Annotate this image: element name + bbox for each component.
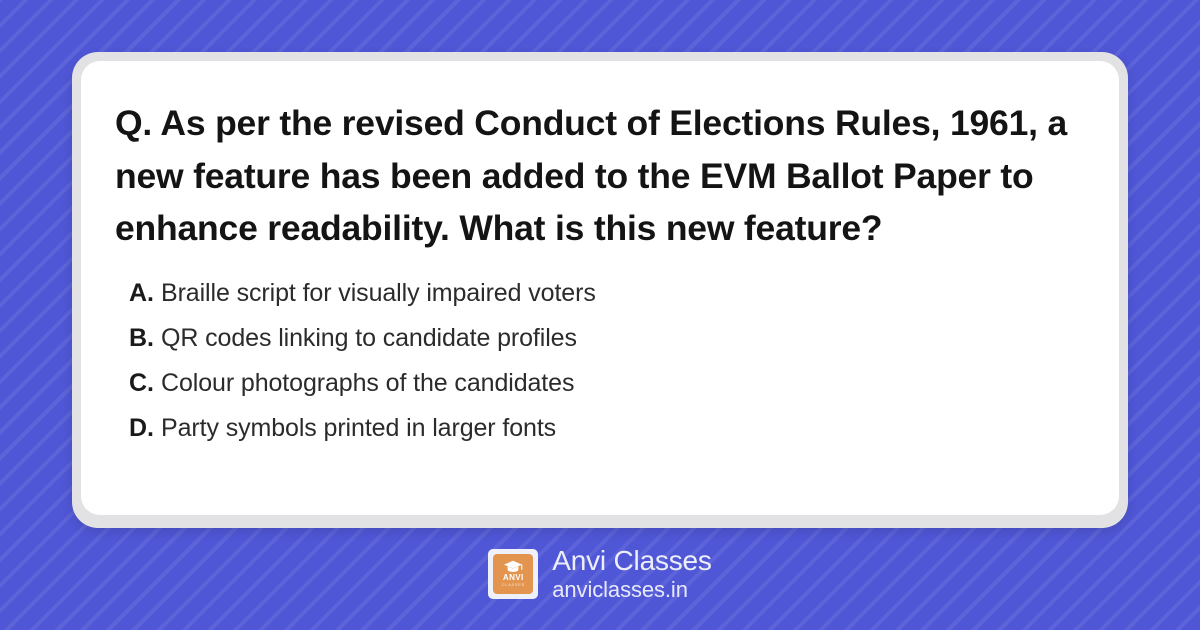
option-letter-c: C.	[129, 369, 161, 398]
options-list: A. Braille script for visually impaired …	[115, 279, 1085, 459]
question-text: Q. As per the revised Conduct of Electio…	[115, 97, 1085, 255]
brand-logo-word: ANVI	[503, 574, 524, 582]
brand-footer: ANVI CLASSES Anvi Classes anviclasses.in	[0, 545, 1200, 603]
option-text-b: QR codes linking to candidate profiles	[161, 324, 577, 353]
option-letter-a: A.	[129, 279, 161, 308]
option-row-d[interactable]: D. Party symbols printed in larger fonts	[115, 414, 1085, 459]
brand-logo-sub: CLASSES	[502, 583, 525, 587]
option-text-d: Party symbols printed in larger fonts	[161, 414, 556, 443]
brand-name: Anvi Classes	[552, 545, 711, 577]
graduation-cap-icon	[503, 560, 523, 573]
option-text-a: Braille script for visually impaired vot…	[161, 279, 596, 308]
quiz-card: Q. As per the revised Conduct of Electio…	[72, 52, 1128, 528]
option-row-b[interactable]: B. QR codes linking to candidate profile…	[115, 324, 1085, 369]
option-row-a[interactable]: A. Braille script for visually impaired …	[115, 279, 1085, 324]
brand-textblock: Anvi Classes anviclasses.in	[552, 545, 711, 603]
brand-url[interactable]: anviclasses.in	[552, 577, 711, 603]
option-text-c: Colour photographs of the candidates	[161, 369, 574, 398]
brand-logo: ANVI CLASSES	[488, 549, 538, 599]
quiz-card-inner: Q. As per the revised Conduct of Electio…	[81, 61, 1119, 515]
option-row-c[interactable]: C. Colour photographs of the candidates	[115, 369, 1085, 414]
option-letter-b: B.	[129, 324, 161, 353]
option-letter-d: D.	[129, 414, 161, 443]
brand-logo-square: ANVI CLASSES	[493, 554, 533, 594]
